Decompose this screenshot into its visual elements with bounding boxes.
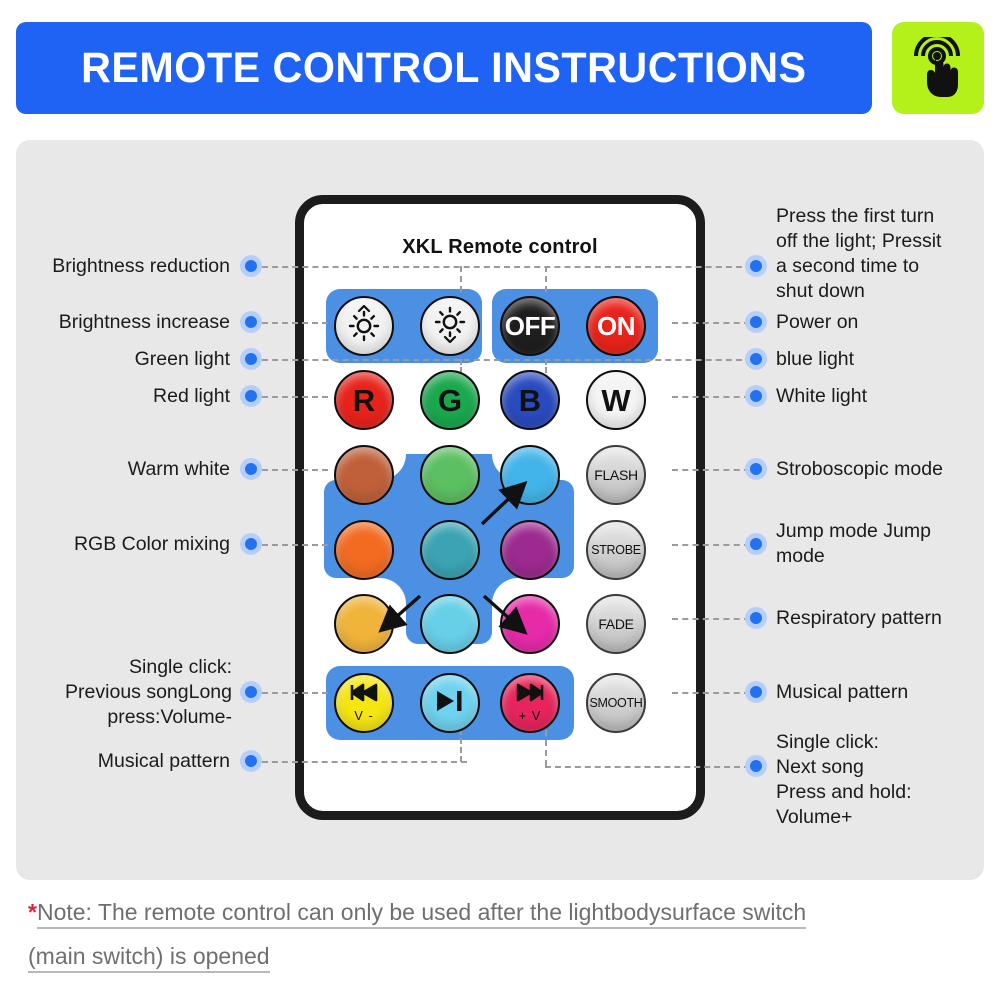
off-button[interactable]: OFF [500, 296, 560, 356]
callout-dot-green-light[interactable] [240, 348, 262, 370]
red-button-label: R [353, 385, 375, 416]
page-title: REMOTE CONTROL INSTRUCTIONS [81, 44, 806, 93]
callout-dot-red-light[interactable] [240, 385, 262, 407]
sun-down-icon [432, 305, 468, 348]
note-line-2: (main switch) is opened [28, 943, 270, 973]
remote-control-body: XKL Remote control [295, 195, 705, 820]
color-warmwhite-button[interactable] [334, 445, 394, 505]
callout-red-light: Red light [10, 384, 230, 409]
callout-dot-brightness-increase[interactable] [240, 311, 262, 333]
remote-brand-label: XKL Remote control [304, 236, 696, 259]
callout-white-light: White light [776, 384, 982, 409]
color-orange-button[interactable] [334, 520, 394, 580]
connector-line [672, 322, 750, 324]
callout-dot-previous-song[interactable] [240, 681, 262, 703]
white-button[interactable]: W [586, 370, 646, 430]
connector-line [262, 469, 328, 471]
callout-dot-rgb-color-mixing[interactable] [240, 533, 262, 555]
note-line-1: Note: The remote control can only be use… [37, 899, 806, 929]
strobe-button-label: STROBE [591, 544, 641, 557]
callout-power-off: Press the first turn off the light; Pres… [776, 204, 982, 304]
red-button[interactable]: R [334, 370, 394, 430]
on-button-label: ON [597, 313, 635, 339]
callout-dot-musical-pattern-left[interactable] [240, 750, 262, 772]
brightness-up-button[interactable] [334, 296, 394, 356]
connector-line [262, 359, 752, 361]
callout-dot-white-light[interactable] [745, 385, 767, 407]
callout-respiratory-pattern: Respiratory pattern [776, 606, 988, 631]
note-asterisk: * [28, 899, 37, 925]
connector-line [262, 396, 328, 398]
off-button-label: OFF [505, 313, 556, 339]
next-track-icon [515, 683, 545, 707]
callout-warm-white: Warm white [10, 457, 230, 482]
next-track-button[interactable]: + V [500, 673, 560, 733]
smooth-button-label: SMOOTH [589, 697, 642, 710]
connector-line [672, 544, 750, 546]
connector-line [262, 322, 328, 324]
callout-dot-musical-pattern-right[interactable] [745, 681, 767, 703]
connector-line [545, 266, 547, 292]
strobe-button[interactable]: STROBE [586, 520, 646, 580]
callout-power-on: Power on [776, 310, 982, 335]
color-magenta-button[interactable] [500, 594, 560, 654]
callout-dot-power-on[interactable] [745, 311, 767, 333]
connector-line [262, 544, 328, 546]
header-banner: REMOTE CONTROL INSTRUCTIONS [16, 22, 872, 114]
flash-button-label: FLASH [594, 468, 638, 482]
callout-dot-power-off[interactable] [745, 255, 767, 277]
callout-musical-pattern-right: Musical pattern [776, 680, 982, 705]
touch-gesture-icon [910, 37, 966, 99]
connector-line [262, 266, 752, 268]
callout-jump-mode: Jump mode Jump mode [776, 519, 982, 569]
connector-line [460, 266, 462, 292]
connector-line [672, 692, 750, 694]
color-cyan-button[interactable] [420, 594, 480, 654]
white-button-label: W [601, 385, 630, 416]
play-pause-button[interactable] [420, 673, 480, 733]
callout-dot-jump-mode[interactable] [745, 533, 767, 555]
color-purple-button[interactable] [500, 520, 560, 580]
blue-button-label: B [519, 385, 541, 416]
next-track-sublabel: + V [519, 708, 542, 723]
callout-dot-next-song[interactable] [745, 755, 767, 777]
green-button-label: G [438, 385, 462, 416]
color-amber-button[interactable] [334, 594, 394, 654]
connector-line [262, 761, 467, 763]
callout-rgb-color-mixing: RGB Color mixing [10, 532, 230, 557]
callout-green-light: Green light [10, 347, 230, 372]
callout-brightness-reduction: Brightness reduction [10, 254, 230, 279]
smooth-button[interactable]: SMOOTH [586, 673, 646, 733]
callout-blue-light: blue light [776, 347, 982, 372]
color-skyblue-button[interactable] [500, 445, 560, 505]
connector-line [262, 692, 328, 694]
brightness-down-button[interactable] [420, 296, 480, 356]
callout-next-song: Single click: Next song Press and hold: … [776, 730, 982, 830]
play-pause-icon [434, 689, 466, 718]
connector-line [545, 766, 750, 768]
footer-note: *Note: The remote control can only be us… [28, 890, 978, 978]
green-button[interactable]: G [420, 370, 480, 430]
fade-button[interactable]: FADE [586, 594, 646, 654]
callout-brightness-increase: Brightness increase [10, 310, 230, 335]
color-lightgreen-button[interactable] [420, 445, 480, 505]
callout-dot-stroboscopic-mode[interactable] [745, 458, 767, 480]
previous-track-button[interactable]: V - [334, 673, 394, 733]
callout-dot-warm-white[interactable] [240, 458, 262, 480]
callout-previous-song: Single click: Previous songLong press:Vo… [10, 655, 232, 730]
connector-line [672, 618, 750, 620]
fade-button-label: FADE [598, 617, 633, 631]
sun-up-icon [346, 305, 382, 348]
flash-button[interactable]: FLASH [586, 445, 646, 505]
callout-dot-respiratory-pattern[interactable] [745, 607, 767, 629]
callout-musical-pattern-left: Musical pattern [10, 749, 230, 774]
previous-track-icon [349, 683, 379, 707]
callout-stroboscopic-mode: Stroboscopic mode [776, 457, 988, 482]
callout-dot-brightness-reduction[interactable] [240, 255, 262, 277]
callout-dot-blue-light[interactable] [745, 348, 767, 370]
blue-button[interactable]: B [500, 370, 560, 430]
on-button[interactable]: ON [586, 296, 646, 356]
previous-track-sublabel: V - [354, 708, 374, 723]
touch-gesture-badge [892, 22, 984, 114]
color-teal-button[interactable] [420, 520, 480, 580]
connector-line [672, 469, 750, 471]
page-root: REMOTE CONTROL INSTRUCTIONS [0, 0, 1000, 1000]
connector-line [672, 396, 750, 398]
